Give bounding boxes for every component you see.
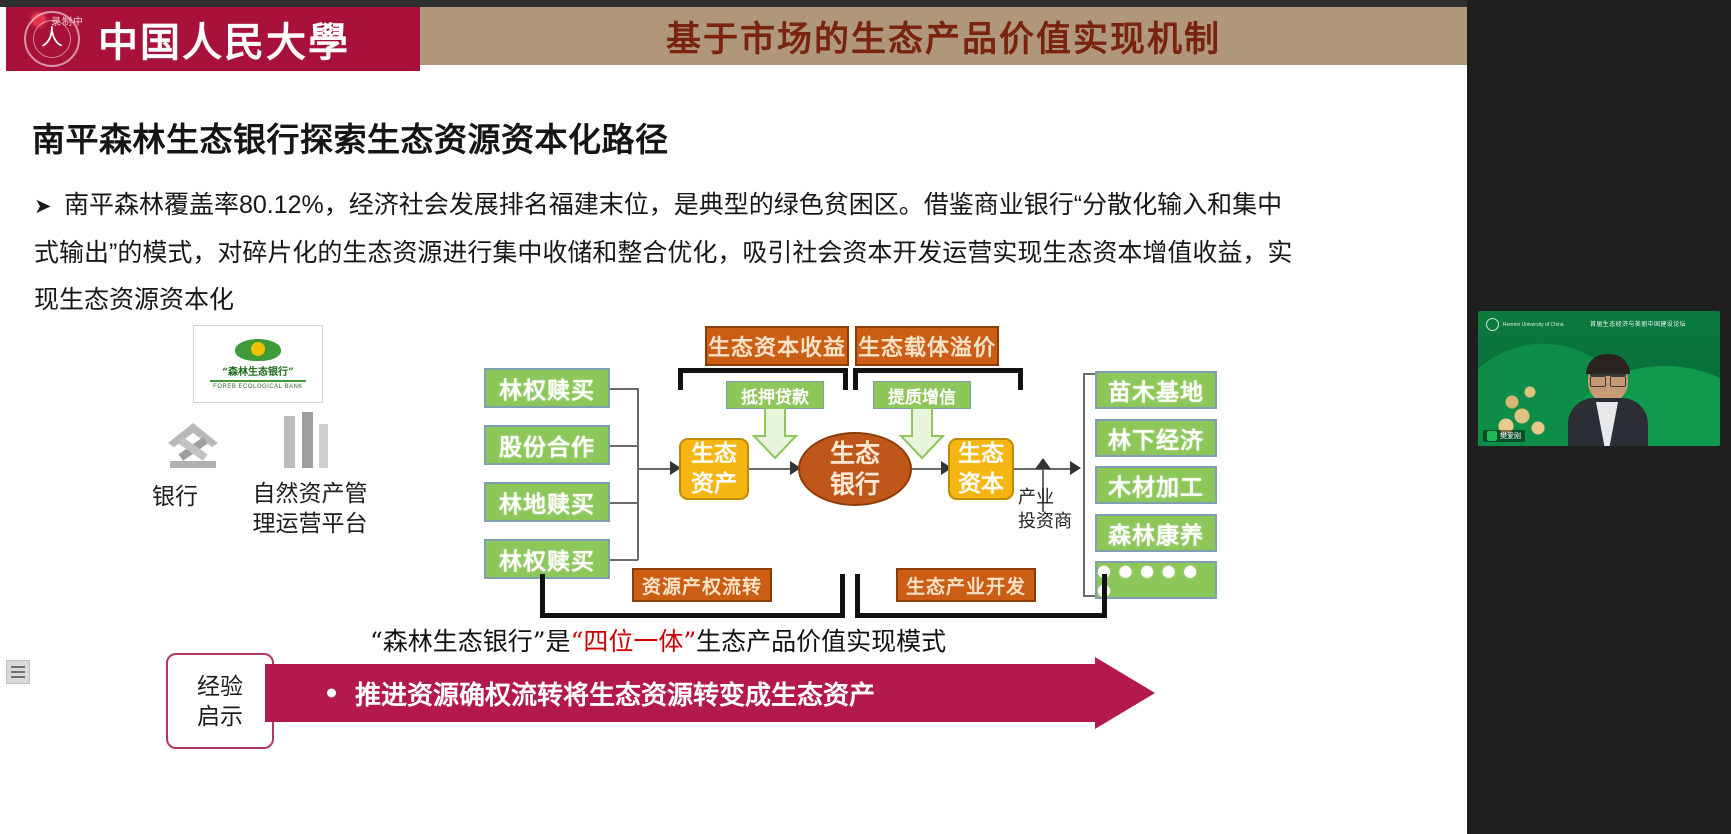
participant-video-tile[interactable]: Renmin University of China 首届生态经济与美丽中国建设… [1478, 311, 1720, 446]
label-platform: 自然资产管 理运营平台 [240, 478, 380, 538]
top-orange-1[interactable]: 生态载体溢价 [855, 326, 999, 366]
bracket-line [678, 368, 848, 373]
input-box-1[interactable]: 股份合作 [484, 425, 610, 465]
page-title: 南平森林生态银行探索生态资源资本化路径 [32, 113, 669, 161]
bracket-line [540, 613, 845, 618]
down-arrow-icon [752, 408, 798, 460]
platform-columns-icon [278, 410, 332, 476]
caption-highlight: “四位一体” [571, 627, 697, 656]
logo-divider [210, 380, 306, 382]
connector-line [610, 388, 638, 390]
screen-root: 录制中 人 中国人民大學 基于市场的生态产品价值实现机制 南平森林生态银行探索生… [0, 0, 1731, 834]
leaf-icon [235, 339, 281, 361]
caption-prefix: “森林生态银行”是 [370, 627, 571, 656]
connector-line [610, 502, 638, 504]
right-pane: Renmin University of China 首届生态经济与美丽中国建设… [1467, 0, 1731, 834]
bracket-line [540, 574, 545, 618]
seal-glyph: 人 [26, 28, 78, 50]
banner-arrow-tip [1095, 657, 1155, 729]
participant-name: 樊爱刚 [1500, 431, 1521, 441]
green-tag-0[interactable]: 抵押贷款 [726, 381, 824, 409]
menu-line [11, 666, 25, 668]
input-box-2[interactable]: 林地赎买 [484, 482, 610, 522]
participant-name-badge: 樊爱刚 [1483, 430, 1525, 442]
experience-callout-box: 经验 启示 [166, 653, 274, 749]
output-box-3[interactable]: 森林康养 [1095, 514, 1217, 552]
forum-logo: Renmin University of China [1486, 318, 1564, 331]
glasses-icon [1590, 374, 1626, 383]
connector-line [610, 559, 638, 561]
avatar-hair [1586, 354, 1630, 374]
logo-line2: FOREB ECOLOGICAL BANK [213, 384, 303, 390]
slide-menu-icon[interactable] [6, 660, 30, 684]
connector-line [749, 468, 793, 470]
university-seal-icon: 人 [24, 11, 80, 67]
output-box-1[interactable]: 林下经济 [1095, 419, 1217, 457]
forum-logo-icon [1486, 318, 1499, 331]
forum-logo-text: Renmin University of China [1503, 322, 1564, 328]
bottom-orange-1[interactable]: 生态产业开发 [896, 568, 1036, 602]
bracket-line [843, 368, 848, 390]
bullet-arrow-icon: ➤ [34, 183, 64, 230]
caption-suffix: 生态产品价值实现模式 [696, 627, 946, 656]
bracket-line [855, 613, 1107, 618]
label-bank: 银行 [140, 481, 210, 511]
key-takeaway-banner: 推进资源确权流转将生态资源转变成生态资产 [265, 664, 1155, 722]
presentation-slide: 录制中 人 中国人民大學 基于市场的生态产品价值实现机制 南平森林生态银行探索生… [0, 0, 1467, 834]
participant-avatar [1566, 354, 1650, 446]
paragraph-text: 南平森林覆盖率80.12%，经济社会发展排名福建末位，是典型的绿色贫困区。借鉴商… [34, 191, 1292, 314]
bracket-line [1018, 368, 1023, 390]
bank-building-icon [160, 413, 226, 475]
background-trees [1496, 368, 1566, 438]
output-box-0[interactable]: 苗木基地 [1095, 371, 1217, 409]
connector-line [637, 388, 639, 560]
diagram-canvas: “森林生态银行” FOREB ECOLOGICAL BANK 银行 自然资产管 … [0, 318, 1300, 618]
menu-line [11, 671, 25, 673]
label-industry-investor: 产业 投资商 [1018, 486, 1078, 534]
top-orange-0[interactable]: 生态资本收益 [705, 326, 849, 366]
logo-line1: “森林生态银行” [222, 363, 294, 378]
diagram-caption: “森林生态银行”是“四位一体”生态产品价值实现模式 [370, 622, 946, 658]
connector-line [610, 445, 638, 447]
banner-text: 推进资源确权流转将生态资源转变成生态资产 [355, 675, 875, 712]
bracket-line [678, 368, 683, 390]
output-box-4[interactable]: ● ● ● ● ● ● [1095, 561, 1217, 599]
bracket-line [853, 368, 1023, 373]
microphone-icon [1487, 431, 1497, 441]
university-name: 中国人民大學 [98, 10, 350, 68]
slide-banner: 基于市场的生态产品价值实现机制 [420, 7, 1467, 65]
green-tag-1[interactable]: 提质增信 [873, 381, 971, 409]
connector-line [1083, 373, 1085, 595]
bottom-orange-0[interactable]: 资源产权流转 [632, 568, 772, 602]
bracket-line [1102, 574, 1107, 618]
bracket-line [855, 574, 860, 618]
output-box-2[interactable]: 木材加工 [1095, 466, 1217, 504]
down-arrow-icon [899, 408, 945, 460]
node-eco-capital[interactable]: 生态 资本 [948, 438, 1014, 500]
node-eco-asset[interactable]: 生态 资产 [679, 438, 749, 500]
connector-line [912, 468, 944, 470]
university-brand-block: 录制中 人 中国人民大學 [6, 7, 420, 71]
menu-line [11, 676, 25, 678]
arrow-up-icon [1035, 458, 1051, 469]
node-eco-bank[interactable]: 生态 银行 [798, 432, 912, 506]
bracket-line [840, 574, 845, 618]
forum-overlay-title: 首届生态经济与美丽中国建设论坛 [1590, 319, 1686, 328]
forest-bank-logo: “森林生态银行” FOREB ECOLOGICAL BANK [193, 325, 323, 403]
arrow-head-icon [1070, 461, 1081, 475]
banner-title: 基于市场的生态产品价值实现机制 [666, 11, 1221, 62]
bracket-line [853, 368, 858, 390]
body-paragraph: ➤南平森林覆盖率80.12%，经济社会发展排名福建末位，是典型的绿色贫困区。借鉴… [34, 182, 1304, 324]
input-box-0[interactable]: 林权赎买 [484, 368, 610, 408]
bullet-dot-icon [327, 689, 336, 698]
input-box-3[interactable]: 林权赎买 [484, 539, 610, 579]
top-strip [0, 0, 1467, 7]
connector-line [637, 468, 673, 470]
banner-body: 推进资源确权流转将生态资源转变成生态资产 [265, 664, 1095, 722]
